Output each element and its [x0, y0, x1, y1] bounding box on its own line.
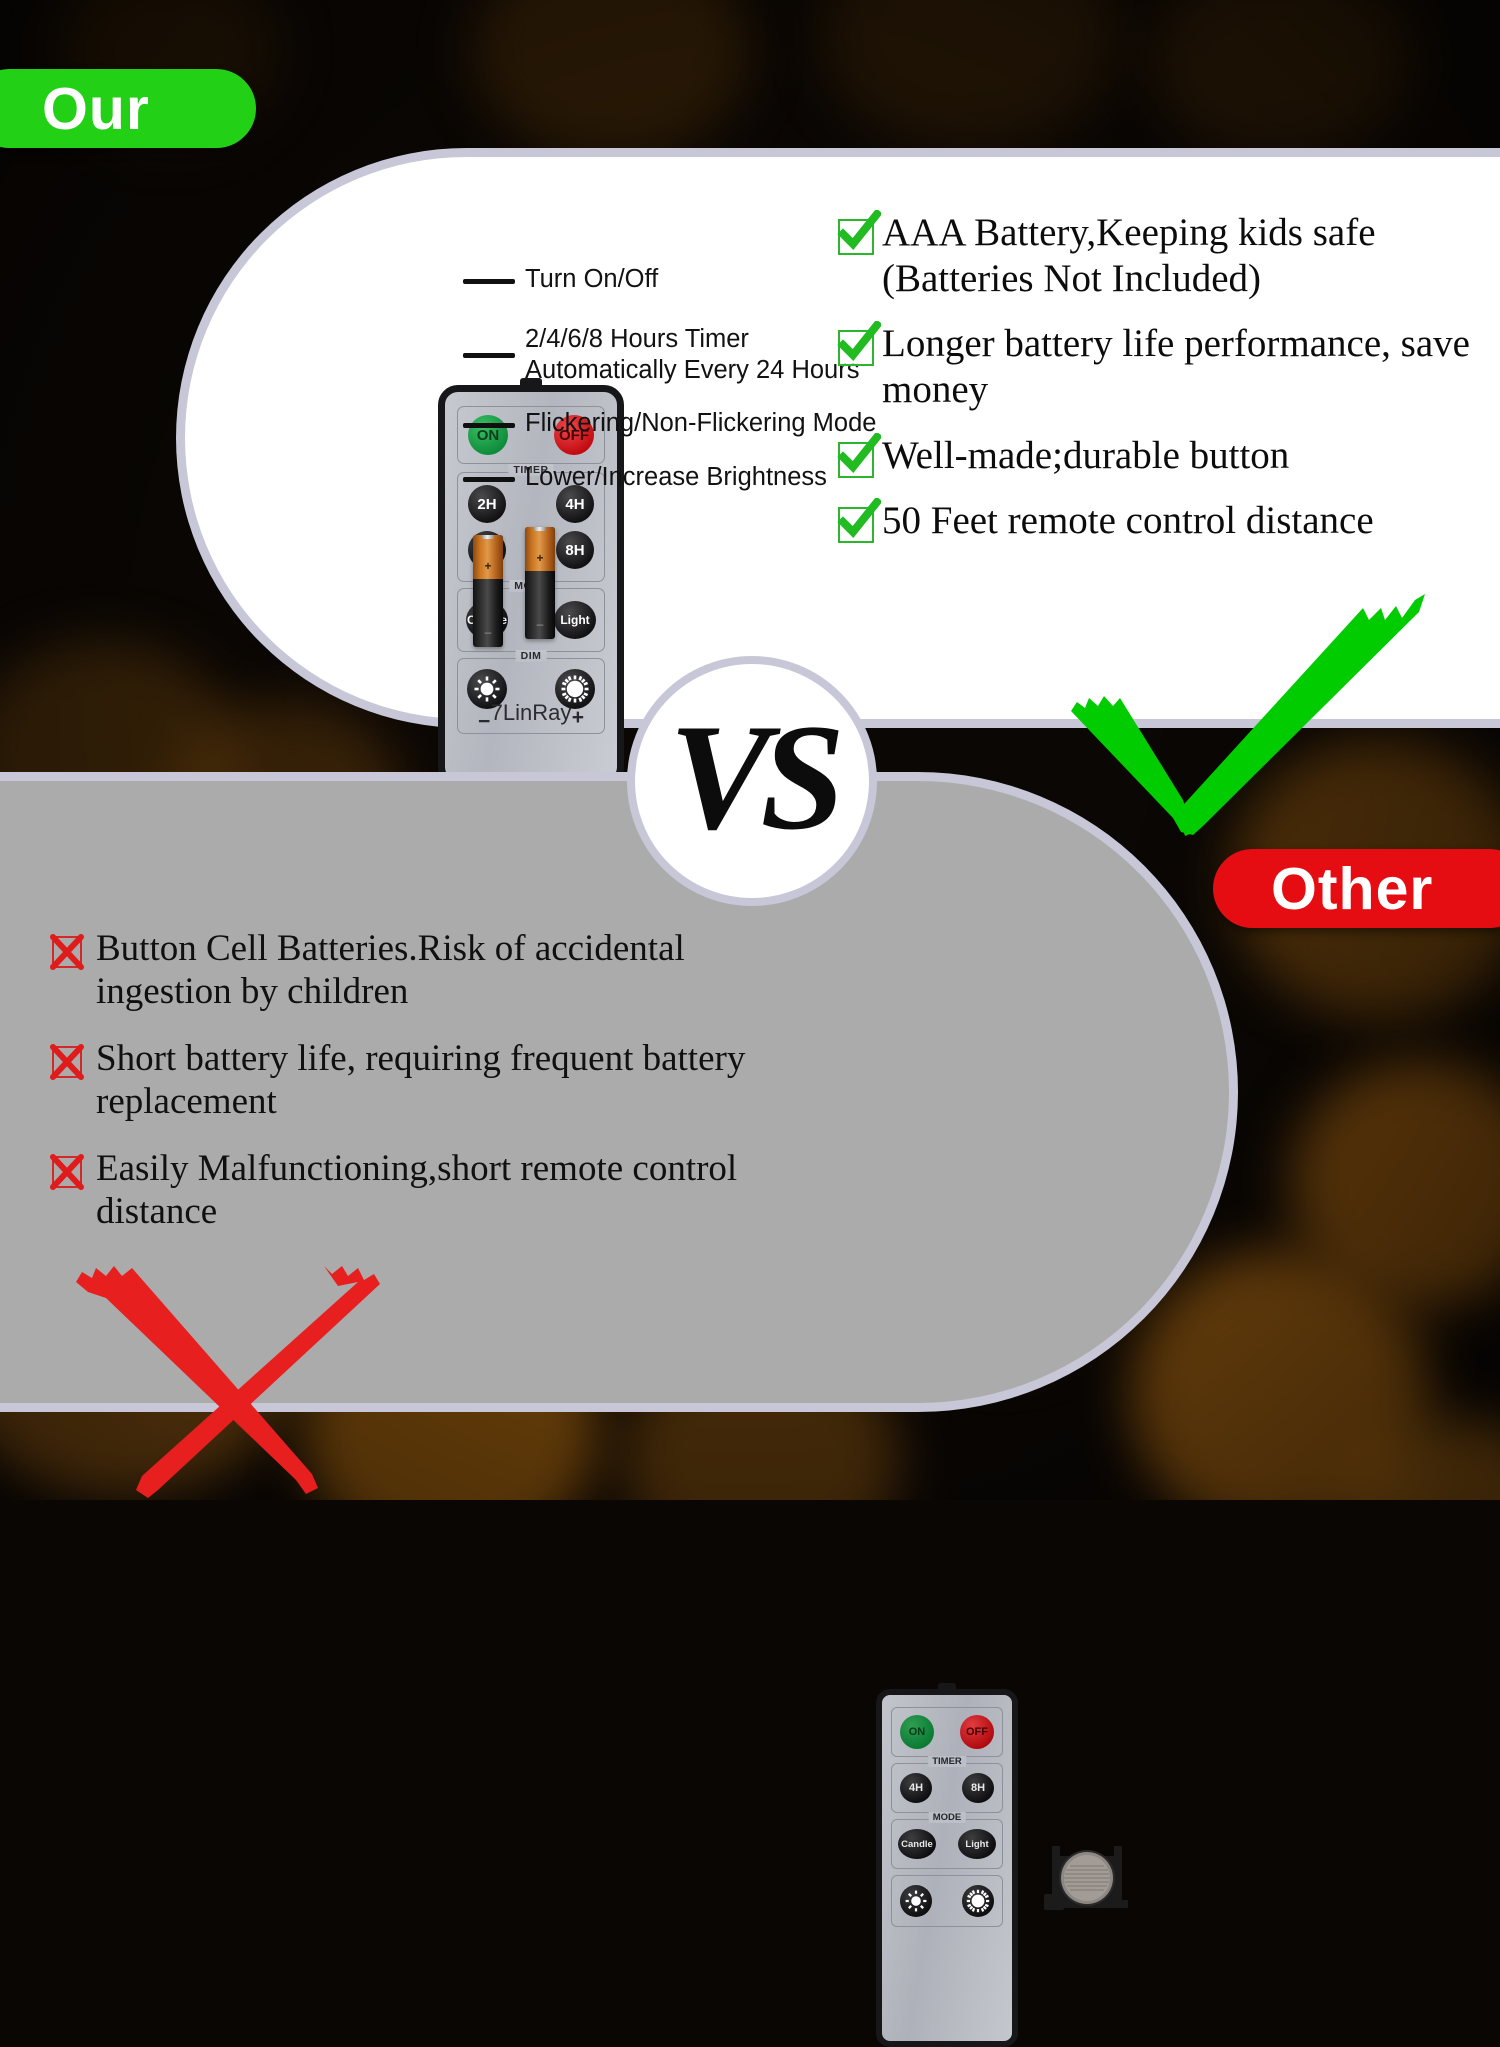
aaa-battery-2: + –	[525, 527, 555, 639]
brightness-low-icon	[900, 1885, 932, 1917]
off-button[interactable]: OFF	[960, 1715, 994, 1749]
feature-item: Longer battery life performance, save mo…	[838, 321, 1498, 412]
vs-label: VS	[669, 701, 835, 853]
con-text: Short battery life, requiring frequent b…	[96, 1038, 782, 1124]
battery-plus-label-2: +	[525, 551, 555, 565]
timer-group-label: TIMER	[928, 1756, 966, 1767]
other-badge: Other	[1213, 849, 1500, 928]
feature-text: Well-made;durable button	[882, 433, 1289, 479]
on-button[interactable]: ON	[468, 415, 508, 455]
other-remote-control: ON OFF TIMER 4H 8H MODE Candle Light	[876, 1689, 1018, 2047]
leader-line-3	[463, 423, 515, 428]
vs-badge: VS	[627, 656, 877, 906]
brand-name: 7LinRay	[445, 700, 617, 726]
feature-text: 50 Feet remote control distance	[882, 498, 1374, 544]
dim-group-label: DIM	[516, 650, 547, 662]
coin-cell-battery	[1038, 1826, 1136, 1924]
leader-line-1	[463, 279, 515, 284]
on-button[interactable]: ON	[900, 1715, 934, 1749]
callout-power: Turn On/Off	[525, 264, 658, 295]
battery-plus-label-1: +	[473, 559, 503, 573]
check-icon	[838, 442, 874, 478]
con-list: Button Cell Batteries.Risk of accidental…	[52, 928, 782, 1257]
timer-button-group: TIMER 4H 8H	[891, 1763, 1003, 1813]
our-badge: Our	[0, 69, 256, 148]
power-button-group: ON OFF	[891, 1707, 1003, 1757]
mode-candle-button[interactable]: Candle	[898, 1829, 936, 1859]
timer-4h-button[interactable]: 4H	[900, 1773, 932, 1803]
callout-brightness: Lower/Increase Brightness	[525, 462, 827, 493]
check-icon	[838, 330, 874, 366]
x-mark-icon	[52, 1156, 82, 1188]
con-item: Button Cell Batteries.Risk of accidental…	[52, 928, 782, 1014]
x-mark-icon	[52, 1046, 82, 1078]
leader-line-2	[463, 353, 515, 358]
x-mark-icon	[52, 936, 82, 968]
feature-item: 50 Feet remote control distance	[838, 498, 1498, 544]
con-item: Short battery life, requiring frequent b…	[52, 1038, 782, 1124]
con-text: Button Cell Batteries.Risk of accidental…	[96, 928, 782, 1014]
feature-text: AAA Battery,Keeping kids safe (Batteries…	[882, 210, 1498, 301]
dim-down-button[interactable]	[900, 1885, 932, 1917]
check-icon	[838, 507, 874, 543]
con-item: Easily Malfunctioning,short remote contr…	[52, 1148, 782, 1234]
timer-8h-button[interactable]: 8H	[556, 531, 594, 569]
con-text: Easily Malfunctioning,short remote contr…	[96, 1148, 782, 1234]
timer-2h-button[interactable]: 2H	[468, 485, 506, 523]
check-icon	[838, 219, 874, 255]
battery-minus-label-2: –	[525, 617, 555, 631]
timer-8h-button[interactable]: 8H	[962, 1773, 994, 1803]
feature-item: Well-made;durable button	[838, 433, 1498, 479]
dim-button-group	[891, 1875, 1003, 1927]
feature-text: Longer battery life performance, save mo…	[882, 321, 1498, 412]
dim-up-button[interactable]	[962, 1885, 994, 1917]
mode-light-button[interactable]: Light	[554, 601, 596, 639]
feature-list: AAA Battery,Keeping kids safe (Batteries…	[838, 210, 1498, 564]
mode-group-label: MODE	[929, 1812, 966, 1823]
big-green-check-icon	[1063, 586, 1433, 852]
callout-mode: Flickering/Non-Flickering Mode	[525, 408, 876, 439]
callout-timer: 2/4/6/8 Hours Timer Automatically Every …	[525, 324, 859, 386]
aaa-battery-1: + –	[473, 535, 503, 647]
brightness-high-icon	[962, 1885, 994, 1917]
big-red-x-icon	[62, 1252, 392, 1500]
feature-item: AAA Battery,Keeping kids safe (Batteries…	[838, 210, 1498, 301]
remote-ir-nub	[938, 1683, 956, 1692]
battery-minus-label-1: –	[473, 625, 503, 639]
mode-button-group: MODE Candle Light	[891, 1819, 1003, 1869]
leader-line-4	[463, 477, 515, 482]
mode-light-button[interactable]: Light	[958, 1829, 996, 1859]
